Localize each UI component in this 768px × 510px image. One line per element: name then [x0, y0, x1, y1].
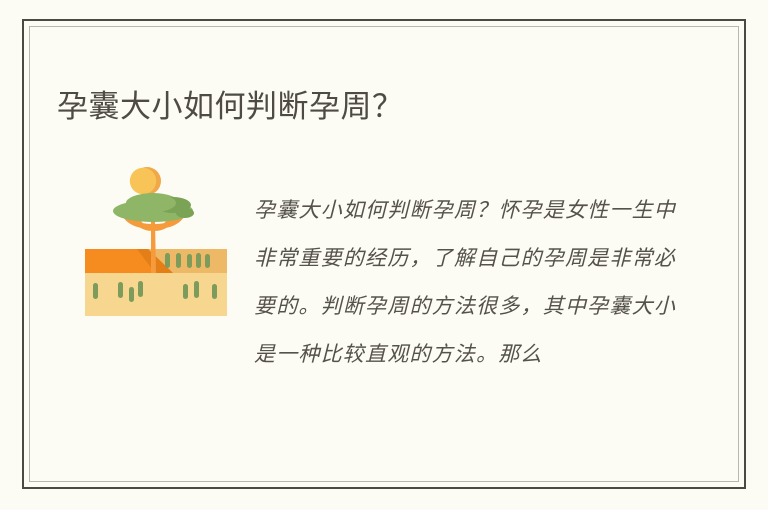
sun-icon — [130, 167, 161, 195]
article-card: 孕囊大小如何判断孕周？ — [22, 19, 746, 489]
article-body-text: 孕囊大小如何判断孕周？怀孕是女性一生中非常重要的经历，了解自己的孕周是非常必要的… — [254, 186, 676, 378]
ground-lower-band — [85, 273, 227, 316]
page-title: 孕囊大小如何判断孕周？ — [57, 85, 404, 129]
savanna-acacia-illustration — [85, 161, 227, 316]
savanna-illustration-svg — [85, 161, 227, 316]
article-content: 孕囊大小如何判断孕周？怀孕是女性一生中非常重要的经历，了解自己的孕周是非常必要的… — [57, 139, 716, 457]
